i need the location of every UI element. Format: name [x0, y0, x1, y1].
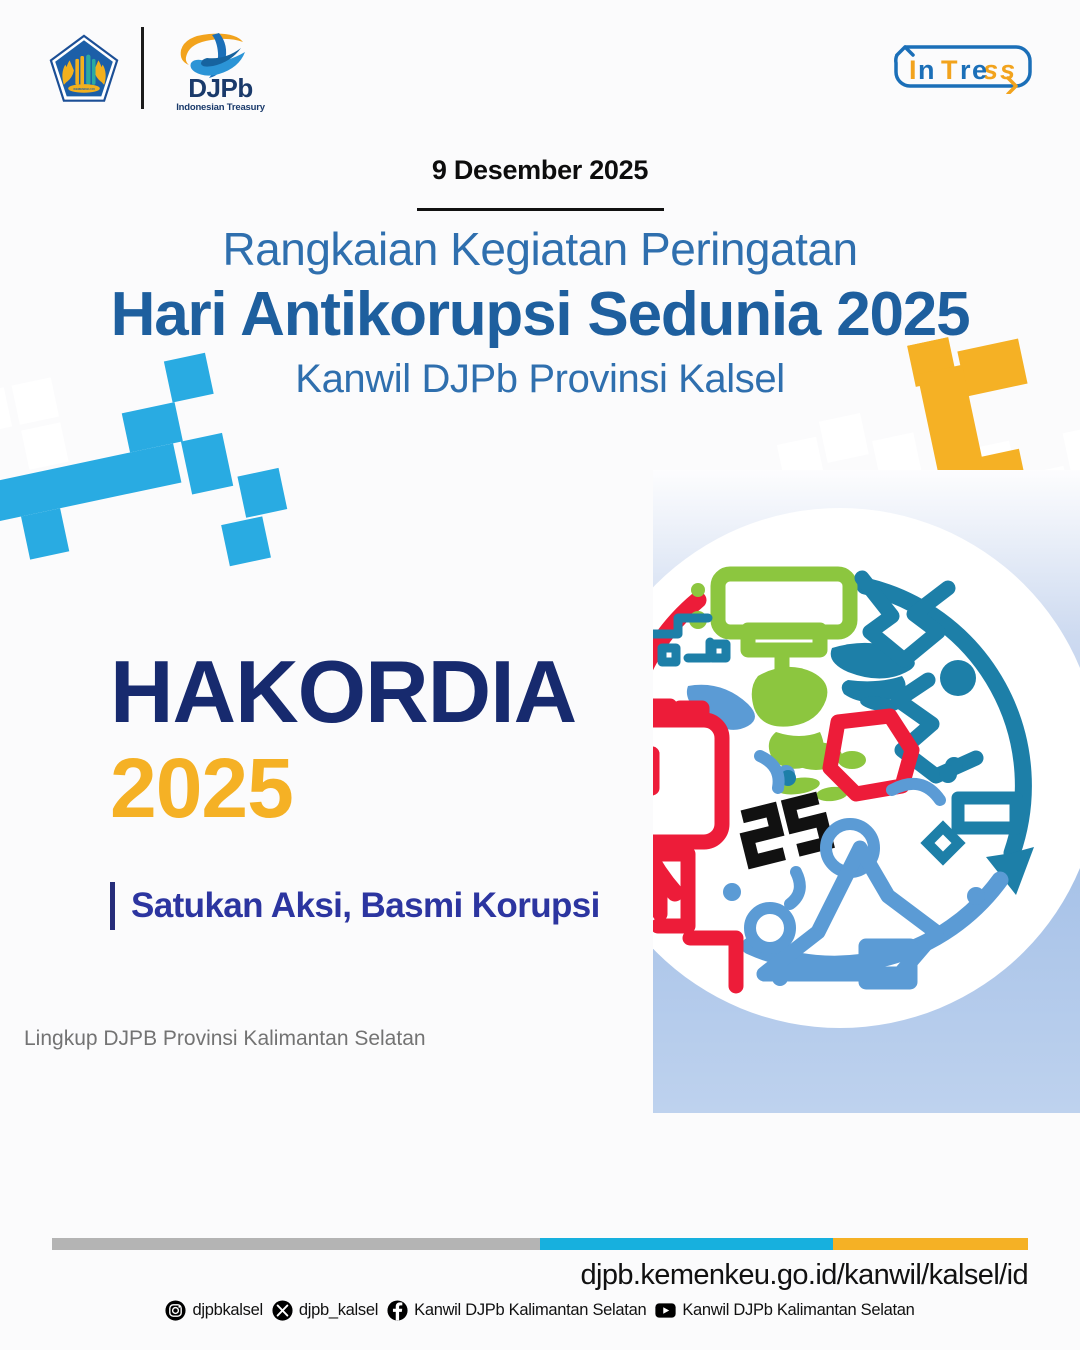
djpb-logo: DJPb Indonesian Treasury [163, 30, 278, 110]
page-title: Hari Antikorupsi Sedunia 2025 [0, 278, 1080, 351]
svg-text:n: n [918, 55, 935, 85]
event-date-block: 9 Desember 2025 [0, 155, 1080, 211]
event-date: 9 Desember 2025 [0, 155, 1080, 186]
date-divider-rule [417, 208, 664, 211]
social-link-instagram[interactable]: djpbkalsel [165, 1300, 262, 1321]
hakordia-tagline: Satukan Aksi, Basmi Korupsi [131, 886, 600, 926]
svg-text:r: r [960, 55, 971, 85]
djpb-swoosh-icon [163, 30, 278, 78]
svg-text:s: s [1000, 55, 1015, 85]
poster-title-block: Rangkaian Kegiatan Peringatan Hari Antik… [0, 222, 1080, 403]
hakordia-wordmark: HAKORDIA [110, 650, 670, 734]
header-logo-bar: KEMENKEU RI DJPb Indonesian Treasury I T… [0, 0, 1080, 130]
svg-text:e: e [972, 55, 987, 85]
footer-bar-segment-orange [833, 1238, 1028, 1250]
svg-text:I: I [909, 55, 917, 85]
hakordia-emblem-icon [653, 508, 1080, 1028]
djpb-subtext: Indonesian Treasury [163, 102, 278, 113]
website-url[interactable]: djpb.kemenkeu.go.id/kanwil/kalsel/id [581, 1259, 1029, 1292]
social-links-row: djpbkalsel djpb_kalsel Kanwil DJPb Kalim… [0, 1300, 1080, 1321]
footer-bar-segment-gray [52, 1238, 540, 1250]
emblem-panel [653, 470, 1080, 1113]
social-link-facebook[interactable]: Kanwil DJPb Kalimantan Selatan [387, 1300, 646, 1321]
title-line-3: Kanwil DJPb Provinsi Kalsel [0, 355, 1080, 403]
youtube-icon [655, 1300, 676, 1321]
intress-logo: I T s s n r e [885, 38, 1040, 94]
poster-canvas: KEMENKEU RI DJPb Indonesian Treasury I T… [0, 0, 1080, 1350]
title-line-1: Rangkaian Kegiatan Peringatan [0, 222, 1080, 276]
instagram-icon [165, 1300, 186, 1321]
hakordia-tagline-row: Satukan Aksi, Basmi Korupsi [110, 882, 670, 930]
kementerian-keuangan-logo: KEMENKEU RI [48, 33, 120, 105]
svg-text:T: T [941, 55, 958, 85]
social-label-instagram: djpbkalsel [192, 1301, 262, 1320]
social-label-x: djpb_kalsel [299, 1301, 378, 1320]
scope-caption: Lingkup DJPB Provinsi Kalimantan Selatan [24, 1026, 454, 1053]
social-label-facebook: Kanwil DJPb Kalimantan Selatan [414, 1301, 646, 1320]
facebook-icon [387, 1300, 408, 1321]
x-twitter-icon [272, 1300, 293, 1321]
svg-text:KEMENKEU RI: KEMENKEU RI [73, 87, 94, 91]
hakordia-year: 2025 [110, 746, 670, 830]
tagline-accent-bar [110, 882, 115, 930]
footer-bar-segment-cyan [540, 1238, 833, 1250]
djpb-wordmark: DJPb [163, 75, 278, 101]
logo-divider [141, 27, 144, 109]
social-link-youtube[interactable]: Kanwil DJPb Kalimantan Selatan [655, 1300, 914, 1321]
social-link-x[interactable]: djpb_kalsel [272, 1300, 378, 1321]
hakordia-lockup: HAKORDIA 2025 Satukan Aksi, Basmi Korups… [110, 650, 670, 930]
footer-color-bar [52, 1238, 1028, 1250]
social-label-youtube: Kanwil DJPb Kalimantan Selatan [682, 1301, 914, 1320]
